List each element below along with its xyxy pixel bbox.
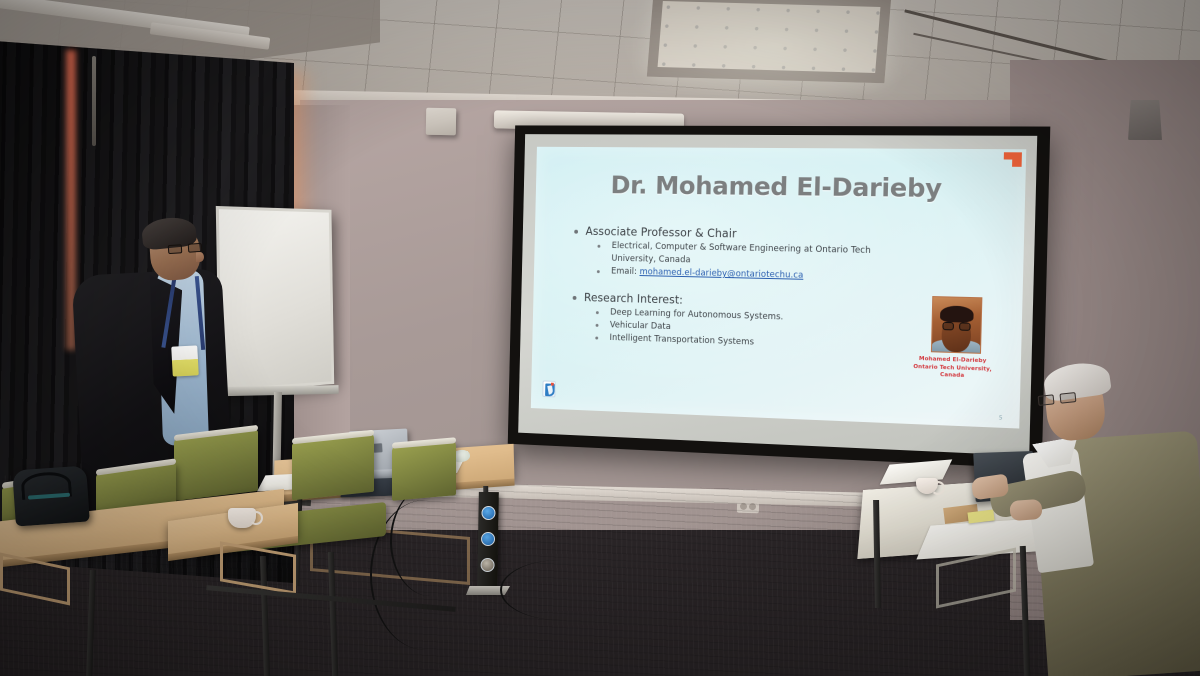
orange-step-marker-icon <box>1004 152 1022 167</box>
coffee-cup-left[interactable] <box>228 508 256 528</box>
bullet-group-1: Associate Professor & Chair Electrical, … <box>571 225 896 285</box>
screen-surface: Dr. Mohamed El-Darieby Associate Profess… <box>518 134 1037 456</box>
attendee-hand-resting <box>1009 499 1042 521</box>
presentation-slide: Dr. Mohamed El-Darieby Associate Profess… <box>531 147 1026 429</box>
backpack[interactable] <box>12 465 90 526</box>
portrait-glasses-icon <box>942 322 970 331</box>
email-label: Email: <box>611 267 637 277</box>
bullet-dot-icon <box>573 296 577 300</box>
power-socket-icon[interactable] <box>480 558 494 572</box>
speaker-portrait <box>931 296 983 354</box>
sub-bullet-text: Intelligent Transportation Systems <box>609 333 754 347</box>
sub-bullet-text: Vehicular Data <box>610 320 671 332</box>
bullet-text: Associate Professor & Chair <box>585 225 736 240</box>
slide-title: Dr. Mohamed El-Darieby <box>536 170 1026 204</box>
speaker-icon-right <box>1128 100 1162 140</box>
sub-bullet-dot-icon <box>596 324 599 327</box>
slide-page-number: 5 <box>999 415 1003 421</box>
laptop-lid-logo-icon <box>373 444 382 454</box>
portrait-hair <box>940 306 974 323</box>
ceiling-light-panel <box>647 0 891 83</box>
power-column[interactable] <box>477 492 499 590</box>
portrait-caption-affiliation: Ontario Tech University, Canada <box>907 363 997 382</box>
sub-bullet-dot-icon <box>595 337 598 340</box>
chair[interactable] <box>174 429 258 501</box>
presenter-profile <box>196 252 204 262</box>
projection-screen: Dr. Mohamed El-Darieby Associate Profess… <box>508 125 1051 468</box>
portrait-caption: Mohamed El-Darieby Ontario Tech Universi… <box>907 356 997 382</box>
cable <box>500 560 620 620</box>
light-diffuser-grid <box>658 1 881 73</box>
chair[interactable] <box>292 434 374 501</box>
power-socket-icon[interactable] <box>481 532 495 546</box>
attendee-seated <box>1018 366 1200 676</box>
cable <box>370 500 480 650</box>
slide-body: Associate Professor & Chair Electrical, … <box>570 225 897 356</box>
presenter-badge <box>171 345 199 376</box>
logo-accent-dot <box>551 383 554 386</box>
sub-bullet-dot-icon <box>597 270 600 273</box>
sub-bullet-text: Electrical, Computer & Software Engineer… <box>611 241 871 265</box>
bullet-group-2: Research Interest: Deep Learning for Aut… <box>570 291 895 354</box>
bullet-text: Research Interest: <box>584 291 683 306</box>
curtain-pull-cord[interactable] <box>92 56 96 146</box>
coffee-cup-right[interactable] <box>916 478 938 494</box>
sub-bullet-list-1: Electrical, Computer & Software Engineer… <box>594 240 896 285</box>
slide-bullet-list: Associate Professor & Chair Electrical, … <box>570 225 897 354</box>
bullet-dot-icon <box>574 230 578 234</box>
sub-bullet-dot-icon <box>597 245 600 248</box>
chair[interactable] <box>392 441 456 501</box>
conference-logo-icon <box>542 380 555 397</box>
sub-bullet-list-2: Deep Learning for Autonomous Systems. Ve… <box>592 306 894 354</box>
sub-bullet-dot-icon <box>596 311 599 314</box>
conference-room-photo: Dr. Mohamed El-Darieby Associate Profess… <box>0 0 1200 676</box>
email-link[interactable]: mohamed.el-darieby@ontariotechu.ca <box>639 267 803 281</box>
power-socket-icon[interactable] <box>481 506 495 520</box>
speaker-icon-left <box>426 108 456 136</box>
